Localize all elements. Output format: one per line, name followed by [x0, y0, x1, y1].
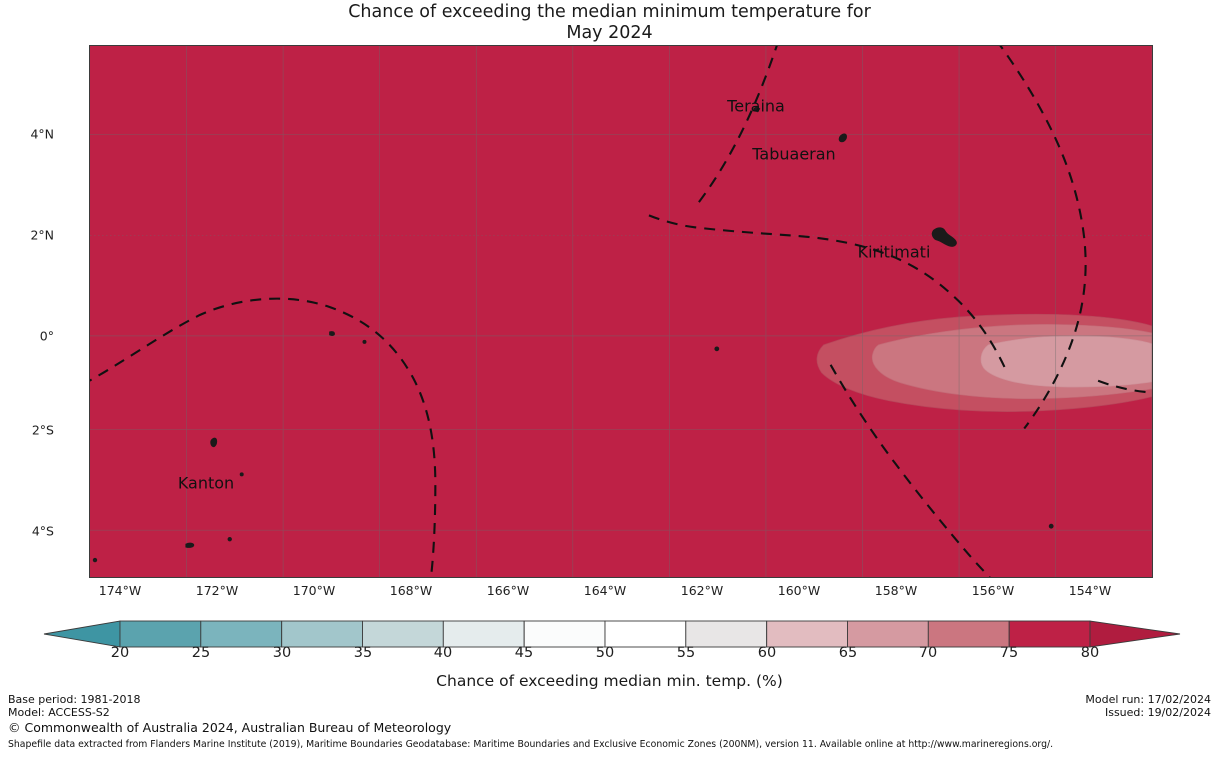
- colorbar-label: Chance of exceeding median min. temp. (%…: [0, 672, 1219, 690]
- island-dot-7: [330, 332, 335, 336]
- map-label-kiritimati: Kiritimati: [858, 243, 931, 262]
- x-axis-tick-172w: 172°W: [196, 583, 238, 598]
- x-axis-tick-154w: 154°W: [1069, 583, 1111, 598]
- map-plot-area: [89, 45, 1153, 578]
- colorbar-tick-60: 60: [758, 645, 776, 661]
- y-axis-tick-4n: 4°N: [30, 127, 54, 142]
- y-axis-tick-2n: 2°N: [30, 228, 54, 243]
- colorbar-tick-35: 35: [354, 645, 372, 661]
- shapefile-attribution-text: Shapefile data extracted from Flanders M…: [8, 739, 1053, 750]
- x-axis-tick-166w: 166°W: [487, 583, 529, 598]
- island-dot-4: [93, 558, 97, 562]
- island-dot-1: [240, 473, 243, 476]
- colorbar-tick-40: 40: [434, 645, 452, 661]
- page-title: Chance of exceeding the median minimum t…: [0, 2, 1219, 44]
- y-axis-tick-2s: 2°S: [32, 423, 54, 438]
- island-dot-2: [186, 543, 194, 547]
- colorbar-tick-50: 50: [596, 645, 614, 661]
- colorbar-tick-70: 70: [919, 645, 937, 661]
- colorbar-tick-45: 45: [515, 645, 533, 661]
- colorbar-tick-55: 55: [677, 645, 695, 661]
- x-axis-tick-168w: 168°W: [390, 583, 432, 598]
- map-label-kanton: Kanton: [178, 474, 234, 493]
- island-dot-8: [363, 340, 366, 343]
- island-kanton: [211, 438, 217, 447]
- issued-text: Issued: 19/02/2024: [1085, 707, 1211, 720]
- x-axis-tick-164w: 164°W: [584, 583, 626, 598]
- map-canvas: [90, 46, 1152, 577]
- contour-band-65-70: [981, 336, 1152, 387]
- x-axis-tick-158w: 158°W: [875, 583, 917, 598]
- title-line-1: Chance of exceeding the median minimum t…: [0, 2, 1219, 23]
- island-dot-3: [228, 537, 232, 541]
- map-label-tabuaeran: Tabuaeran: [752, 145, 835, 164]
- y-axis-tick-0: 0°: [40, 329, 54, 344]
- base-period-text: Base period: 1981-2018: [8, 694, 140, 707]
- island-dot-6: [1049, 524, 1053, 528]
- colorbar-tick-80: 80: [1081, 645, 1099, 661]
- title-line-2: May 2024: [0, 23, 1219, 44]
- field-background: [90, 46, 1152, 577]
- x-axis-tick-156w: 156°W: [972, 583, 1014, 598]
- island-dot-5: [715, 347, 719, 351]
- copyright-text: © Commonwealth of Australia 2024, Austra…: [8, 720, 451, 735]
- colorbar-tick-25: 25: [192, 645, 210, 661]
- colorbar-bands: [120, 621, 1090, 647]
- x-axis-tick-162w: 162°W: [681, 583, 723, 598]
- colorbar-tick-30: 30: [273, 645, 291, 661]
- footer-left-block: Base period: 1981-2018 Model: ACCESS-S2: [8, 694, 140, 719]
- colorbar-tick-65: 65: [839, 645, 857, 661]
- colorbar-tick-75: 75: [1000, 645, 1018, 661]
- x-axis-tick-160w: 160°W: [778, 583, 820, 598]
- model-run-text: Model run: 17/02/2024: [1085, 694, 1211, 707]
- footer-right-block: Model run: 17/02/2024 Issued: 19/02/2024: [1085, 694, 1211, 719]
- colorbar-under-arrow: [44, 621, 120, 647]
- y-axis-tick-4s: 4°S: [32, 524, 54, 539]
- x-axis-tick-170w: 170°W: [293, 583, 335, 598]
- map-label-teraina: Teraina: [727, 97, 785, 116]
- model-text: Model: ACCESS-S2: [8, 707, 140, 720]
- colorbar-tick-20: 20: [111, 645, 129, 661]
- x-axis-tick-174w: 174°W: [99, 583, 141, 598]
- colorbar-over-arrow: [1090, 621, 1180, 647]
